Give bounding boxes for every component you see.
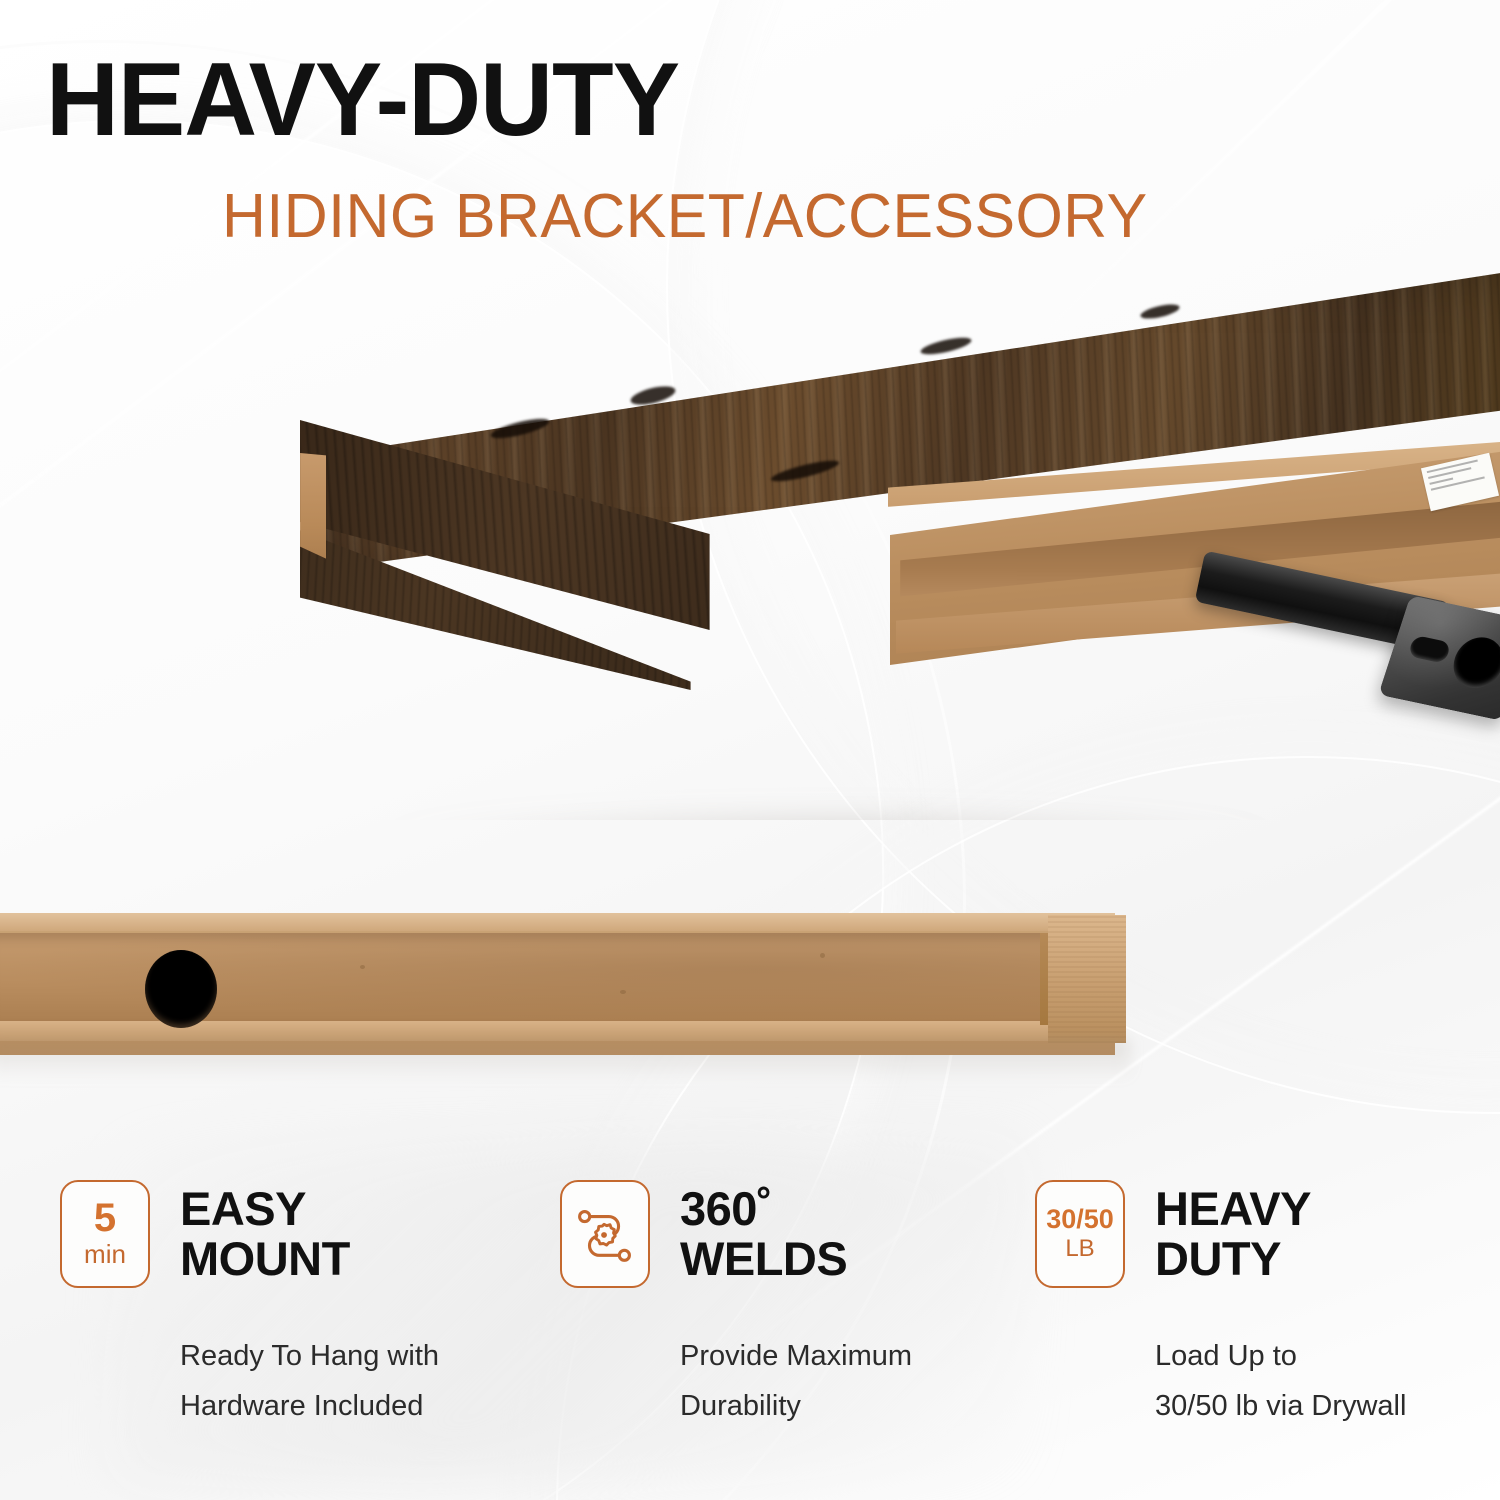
feature-highlights-row: 5 min EASY MOUNT Ready To Hang with Hard… (0, 1180, 1500, 1460)
shelf-drop-shadow (380, 810, 1280, 820)
feature-description: Ready To Hang with Hardware Included (180, 1332, 540, 1432)
page-headline: HEAVY-DUTY (46, 48, 679, 152)
channel-drop-shadow (0, 1040, 1130, 1080)
feature-360-welds: 360˚ WELDS Provide Maximum Durability (560, 1180, 1030, 1288)
feature-title: HEAVY DUTY (1155, 1180, 1311, 1285)
mdf-grain-fleck (620, 990, 626, 994)
load-capacity-badge: 30/50 LB (1035, 1180, 1125, 1288)
feature-title: EASY MOUNT (180, 1180, 350, 1285)
badge-unit: LB (1065, 1235, 1094, 1263)
feature-easy-mount: 5 min EASY MOUNT Ready To Hang with Hard… (60, 1180, 530, 1288)
feature-heavy-duty: 30/50 LB HEAVY DUTY Load Up to 30/50 lb … (1035, 1180, 1500, 1288)
bracket-oval-slot (1408, 635, 1452, 664)
channel-end-cap (1048, 915, 1126, 1043)
mdf-grain-fleck (360, 965, 365, 969)
weld-path-gear-icon (560, 1180, 650, 1288)
feature-header: 360˚ WELDS (560, 1180, 1030, 1288)
feature-header: 30/50 LB HEAVY DUTY (1035, 1180, 1500, 1288)
mdf-grain-fleck (820, 953, 825, 958)
wood-knot (919, 334, 972, 357)
channel-mounting-hole (145, 950, 217, 1028)
page-subheadline: HIDING BRACKET/ACCESSORY (222, 186, 1148, 248)
badge-value: 30/50 (1046, 1206, 1114, 1233)
product-photo-shelf-with-bracket (0, 250, 1500, 820)
feature-description: Provide Maximum Durability (680, 1332, 1040, 1432)
bracket-round-hole (1447, 633, 1500, 693)
feature-header: 5 min EASY MOUNT (60, 1180, 530, 1288)
shelf-assembly (300, 270, 1500, 810)
feature-title: 360˚ WELDS (680, 1180, 847, 1285)
feature-description: Load Up to 30/50 lb via Drywall (1155, 1332, 1500, 1432)
wood-knot (1139, 302, 1180, 322)
badge-unit: min (84, 1240, 126, 1270)
product-photo-channel-closeup (0, 895, 1500, 1115)
five-minute-badge: 5 min (60, 1180, 150, 1288)
product-marketing-image: HEAVY-DUTY HIDING BRACKET/ACCESSORY (0, 0, 1500, 1500)
channel-top-edge (0, 913, 1115, 931)
badge-value: 5 (94, 1198, 116, 1238)
